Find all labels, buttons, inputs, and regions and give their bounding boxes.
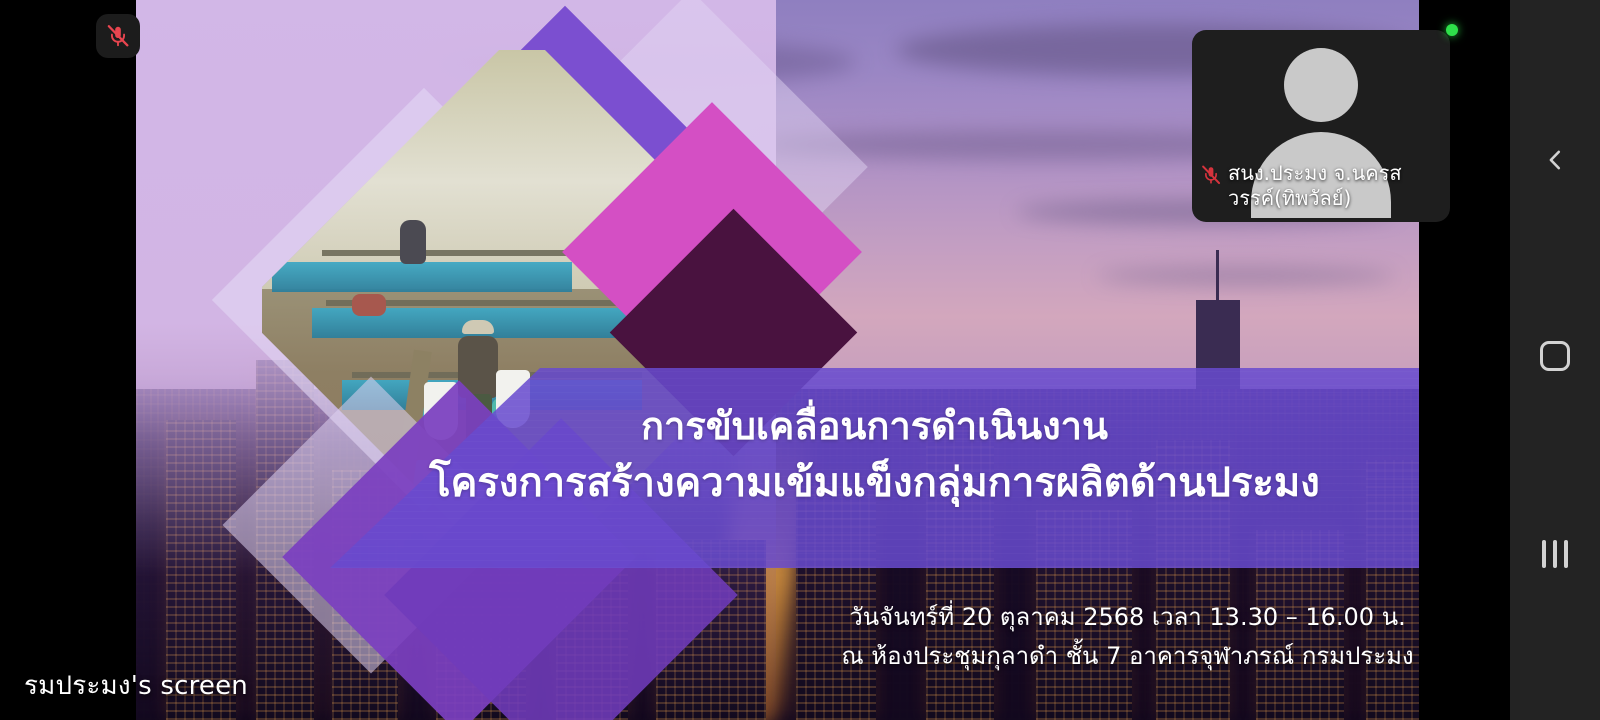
slide-subtitle-date: วันจันทร์ที่ 20 ตุลาคม 2568 เวลา 13.30 –… bbox=[836, 598, 1419, 637]
skyline-spire bbox=[1216, 250, 1219, 305]
slide-title-line1: การขับเคลื่อนการดำเนินงาน bbox=[330, 398, 1419, 454]
chevron-left-icon bbox=[1542, 145, 1568, 175]
self-mute-badge[interactable] bbox=[96, 14, 140, 58]
screen-share-label: รมประมง's screen bbox=[24, 665, 444, 706]
home-button[interactable] bbox=[1510, 326, 1600, 386]
camera-active-green-dot bbox=[1446, 24, 1458, 36]
slide-subtitle-venue: ณ ห้องประชุมกุลาดำ ชั้น 7 อาคารจุฬาภรณ์ … bbox=[836, 637, 1419, 676]
android-navigation-bar bbox=[1510, 0, 1600, 720]
three-bars-icon bbox=[1542, 540, 1568, 568]
participant-name: สนง.ประมง จ.นครส วรรค์(ทิพวัลย์) bbox=[1228, 161, 1442, 212]
float-barrel bbox=[352, 294, 386, 316]
cloud-shape bbox=[1096, 268, 1396, 284]
back-button[interactable] bbox=[1510, 130, 1600, 190]
screen-root: การขับเคลื่อนการดำเนินงาน โครงการสร้างคว… bbox=[0, 0, 1600, 720]
participant-name-line2: วรรค์(ทิพวัลย์) bbox=[1228, 186, 1351, 210]
person-avatar-icon bbox=[1284, 48, 1358, 122]
participant-name-row: สนง.ประมง จ.นครส วรรค์(ทิพวัลย์) bbox=[1200, 161, 1442, 212]
recents-button[interactable] bbox=[1510, 524, 1600, 584]
rounded-square-icon bbox=[1540, 341, 1570, 371]
slide-title: การขับเคลื่อนการดำเนินงาน โครงการสร้างคว… bbox=[330, 398, 1419, 513]
participant-name-line1: สนง.ประมง จ.นครส bbox=[1228, 161, 1402, 185]
slide-title-line2: โครงการสร้างความเข้มแข็งกลุ่มการผลิตด้าน… bbox=[330, 454, 1419, 513]
participant-tile[interactable]: สนง.ประมง จ.นครส วรรค์(ทิพวัลย์) bbox=[1192, 30, 1450, 222]
fish-cage bbox=[272, 262, 572, 292]
microphone-muted-icon bbox=[1200, 163, 1222, 187]
slide-subtitle: วันจันทร์ที่ 20 ตุลาคม 2568 เวลา 13.30 –… bbox=[836, 598, 1419, 676]
microphone-muted-icon bbox=[105, 23, 131, 49]
